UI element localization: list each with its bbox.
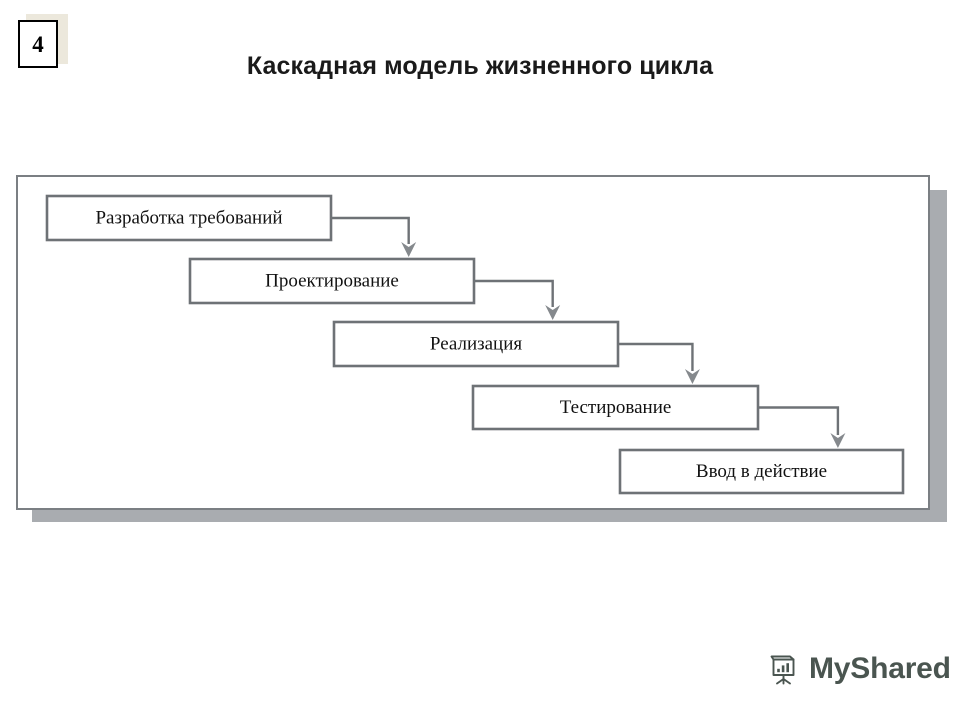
connector-3-4	[618, 344, 700, 384]
stage-2-label: Проектирование	[265, 270, 399, 291]
myshared-watermark: MyShared	[768, 652, 951, 686]
stage-3-label: Реализация	[430, 333, 523, 354]
connector-1-2-line	[331, 218, 409, 244]
connector-2-3-arrowhead	[545, 305, 560, 320]
connector-2-3-line	[474, 281, 553, 307]
waterfall-diagram: Разработка требованийПроектированиеРеали…	[16, 175, 930, 510]
presentation-easel-chart-icon	[768, 652, 802, 686]
connector-4-5-arrowhead	[830, 433, 845, 448]
connector-4-5	[758, 408, 845, 449]
connector-4-5-line	[758, 408, 838, 436]
slide: 4 Каскадная модель жизненного цикла Разр…	[0, 0, 960, 720]
connector-3-4-arrowhead	[685, 369, 700, 384]
page-title: Каскадная модель жизненного цикла	[0, 52, 960, 81]
stage-5[interactable]: Ввод в действие	[620, 450, 903, 493]
connector-2-3	[474, 281, 560, 320]
myshared-label: MyShared	[809, 654, 951, 684]
stage-5-label: Ввод в действие	[696, 461, 827, 482]
stage-1-label: Разработка требований	[95, 207, 282, 228]
connector-1-2	[331, 218, 416, 257]
stage-3[interactable]: Реализация	[334, 322, 618, 366]
connector-3-4-line	[618, 344, 692, 371]
stage-2[interactable]: Проектирование	[190, 259, 474, 303]
waterfall-diagram-svg: Разработка требованийПроектированиеРеали…	[16, 175, 930, 510]
stage-1[interactable]: Разработка требований	[47, 196, 331, 240]
stage-4[interactable]: Тестирование	[473, 386, 758, 429]
stage-4-label: Тестирование	[560, 397, 672, 418]
connector-1-2-arrowhead	[401, 242, 416, 257]
